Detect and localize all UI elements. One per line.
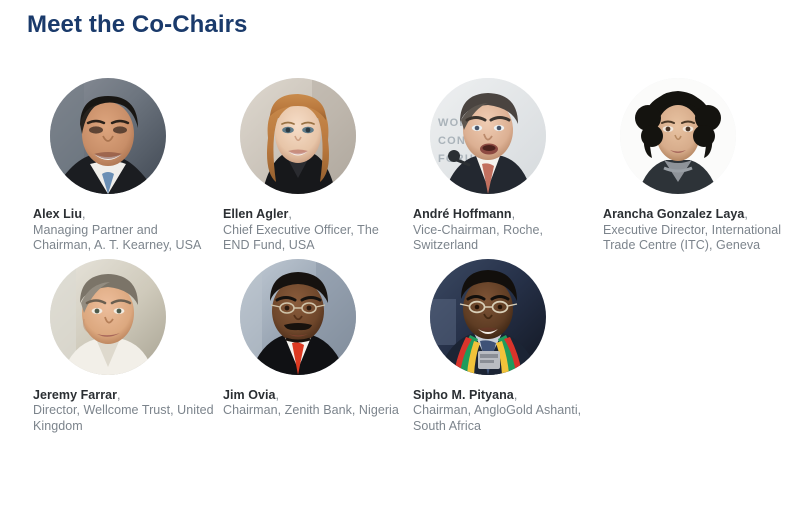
portrait-jim-ovia <box>240 259 356 375</box>
portrait-andre-hoffmann: WOR CON FORU <box>430 78 546 194</box>
co-chairs-grid: Alex Liu, Managing Partner and Chairman,… <box>33 78 790 434</box>
person-name: Jeremy Farrar <box>33 388 117 402</box>
portrait-alex-liu <box>50 78 166 194</box>
person-name: Jim Ovia <box>223 388 276 402</box>
caption-jeremy-farrar: Jeremy Farrar, Director, Wellcome Trust,… <box>33 388 215 435</box>
co-chairs-row-1: Alex Liu, Managing Partner and Chairman,… <box>33 78 790 254</box>
person-name: Sipho M. Pityana <box>413 388 514 402</box>
co-chair-card-jim-ovia[interactable]: Jim Ovia, Chairman, Zenith Bank, Nigeria <box>223 259 413 419</box>
person-name: André Hoffmann <box>413 207 512 221</box>
person-name: Ellen Agler <box>223 207 288 221</box>
co-chairs-row-2: Jeremy Farrar, Director, Wellcome Trust,… <box>33 259 790 435</box>
co-chair-card-arancha-gonzalez-laya[interactable]: Arancha Gonzalez Laya, Executive Directo… <box>603 78 790 254</box>
portrait-ellen-agler <box>240 78 356 194</box>
person-role: Chief Executive Officer, The END Fund, U… <box>223 223 379 253</box>
co-chairs-page: Meet the Co-Chairs <box>0 0 790 513</box>
person-role: Executive Director, International Trade … <box>603 223 781 253</box>
person-name: Arancha Gonzalez Laya <box>603 207 744 221</box>
person-role: Vice-Chairman, Roche, Switzerland <box>413 223 543 253</box>
caption-andre-hoffmann: André Hoffmann, Vice-Chairman, Roche, Sw… <box>413 207 595 254</box>
portrait-jeremy-farrar <box>50 259 166 375</box>
co-chair-card-jeremy-farrar[interactable]: Jeremy Farrar, Director, Wellcome Trust,… <box>33 259 223 435</box>
person-role: Chairman, AngloGold Ashanti, South Afric… <box>413 403 581 433</box>
co-chair-card-alex-liu[interactable]: Alex Liu, Managing Partner and Chairman,… <box>33 78 223 254</box>
person-role: Director, Wellcome Trust, United Kingdom <box>33 403 214 433</box>
caption-sipho-m-pityana: Sipho M. Pityana, Chairman, AngloGold As… <box>413 388 595 435</box>
caption-ellen-agler: Ellen Agler, Chief Executive Officer, Th… <box>223 207 405 254</box>
co-chair-card-sipho-m-pityana[interactable]: Sipho M. Pityana, Chairman, AngloGold As… <box>413 259 603 435</box>
co-chair-card-andre-hoffmann[interactable]: WOR CON FORU <box>413 78 603 254</box>
caption-arancha-gonzalez-laya: Arancha Gonzalez Laya, Executive Directo… <box>603 207 785 254</box>
person-role: Managing Partner and Chairman, A. T. Kea… <box>33 223 201 253</box>
person-role: Chairman, Zenith Bank, Nigeria <box>223 403 399 417</box>
page-title: Meet the Co-Chairs <box>27 10 248 40</box>
portrait-sipho-m-pityana <box>430 259 546 375</box>
co-chair-card-ellen-agler[interactable]: Ellen Agler, Chief Executive Officer, Th… <box>223 78 413 254</box>
caption-alex-liu: Alex Liu, Managing Partner and Chairman,… <box>33 207 215 254</box>
caption-jim-ovia: Jim Ovia, Chairman, Zenith Bank, Nigeria <box>223 388 405 419</box>
portrait-arancha-gonzalez-laya <box>620 78 736 194</box>
person-name: Alex Liu <box>33 207 82 221</box>
backdrop-word-economic: CON <box>438 135 466 147</box>
